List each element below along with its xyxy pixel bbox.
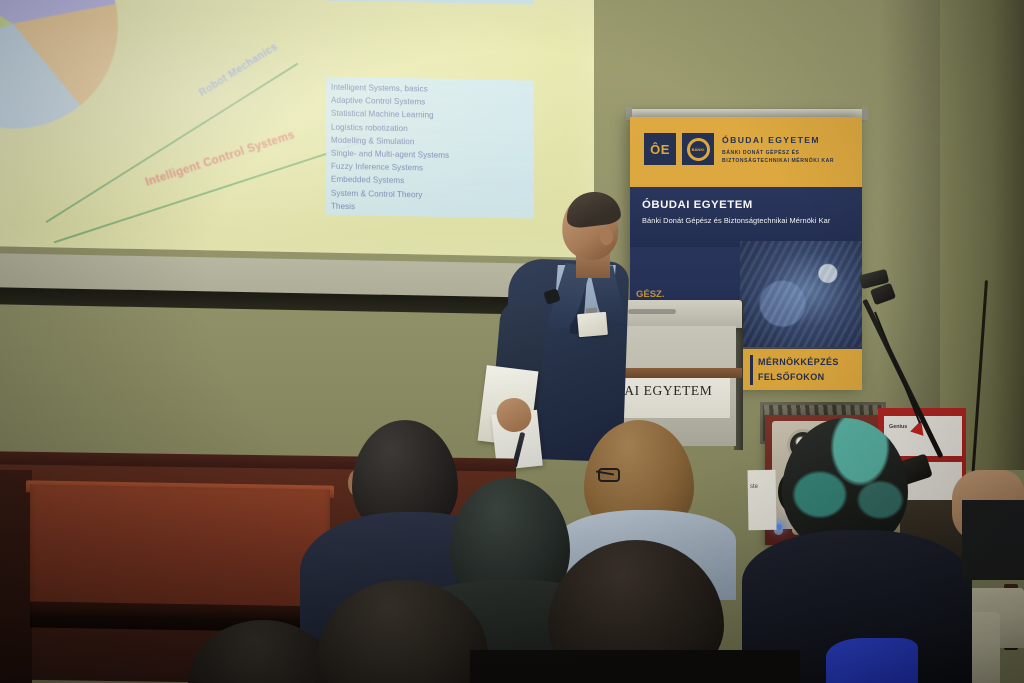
banner-navy-subtitle: Bánki Donát Gépész és Biztonságtechnikai… — [642, 216, 830, 225]
speaker-ear — [600, 228, 613, 245]
projection-screen: Robot Mechanics Intelligent Control Syst… — [0, 0, 608, 314]
slide-line: Thesis — [326, 0, 534, 3]
podium-top-groove — [628, 309, 676, 314]
banki-faculty-logo: BÁNKI — [682, 133, 714, 165]
wall-corner-shadow — [880, 0, 940, 430]
audience-member-body-foreground — [470, 650, 800, 683]
banner-footer-line-2: FELSŐFOKON — [758, 372, 825, 382]
audience-member-blue-jacket — [826, 638, 918, 683]
power-led-indicator — [776, 524, 782, 530]
diagram-label-intelligent-control-systems: Intelligent Control Systems — [144, 129, 296, 189]
gear-icon: BÁNKI — [687, 138, 710, 161]
banner-footer-line-1: MÉRNÖKKÉPZÉS — [758, 357, 839, 367]
pie-chart-graphic — [0, 0, 118, 131]
presentation-photo-scene: Robot Mechanics Intelligent Control Syst… — [0, 0, 1024, 683]
gear-label: BÁNKI — [692, 147, 705, 152]
obuda-university-logo: ÔE — [644, 133, 676, 165]
banner-machinery-photo — [740, 241, 862, 349]
banner-navy-title: ÓBUDAI EGYETEM — [642, 199, 753, 211]
posted-paper-sheet — [747, 470, 776, 530]
banner-footer-accent-bar — [750, 355, 753, 385]
lecture-desk-front — [30, 484, 330, 619]
slide-text-box-top: Thesis — [326, 0, 534, 5]
wall-right-shadow — [940, 0, 1024, 470]
slide-line: Thesis — [326, 199, 534, 216]
diagram-label-robot-mechanics: Robot Mechanics — [197, 41, 280, 100]
logo-monogram: ÔE — [650, 142, 670, 157]
genius-brand-label: Genius — [889, 424, 907, 430]
projected-slide: Robot Mechanics Intelligent Control Syst… — [0, 0, 594, 258]
left-side-wall — [0, 470, 32, 683]
banner-rail-cap-right — [862, 107, 868, 120]
speaker-name-badge — [577, 312, 608, 337]
banner-gold-footer — [740, 349, 862, 390]
banner-photo-texture — [740, 241, 862, 349]
banner-header-subtitle: BÁNKI DONÁT GÉPÉSZ ÉS BIZTONSÁGTECHNIKAI… — [722, 149, 852, 165]
paper-sheet-text: ste — [750, 482, 758, 493]
banner-header-title: ÓBUDAI EGYETEM — [722, 135, 820, 145]
eyeglasses — [598, 468, 620, 482]
slide-text-box-main: Intelligent Systems, basics Adaptive Con… — [326, 77, 534, 219]
audience-member-body — [962, 500, 1024, 580]
banner-slogan-line-3: GÉSZ. — [636, 289, 665, 300]
